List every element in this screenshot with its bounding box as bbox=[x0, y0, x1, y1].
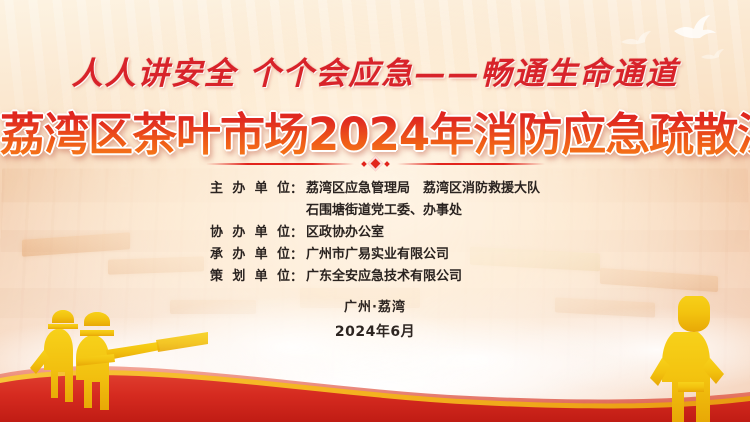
organizers-block: 主办单位：荔湾区应急管理局 荔湾区消防救援大队主办单位：石围塘街道党工委、办事处… bbox=[0, 178, 750, 287]
ornament-diamond bbox=[367, 156, 383, 172]
poster-content: 人人讲安全 个个会应急——畅通生命通道 荔湾区茶叶市场2024年消防应急疏散演练… bbox=[0, 0, 750, 422]
diamond-ornament-icon bbox=[362, 158, 389, 169]
organizer-label: 主办单位 bbox=[210, 178, 290, 199]
organizers-list: 主办单位：荔湾区应急管理局 荔湾区消防救援大队主办单位：石围塘街道党工委、办事处… bbox=[210, 178, 540, 287]
divider bbox=[0, 158, 750, 169]
organizer-row: 主办单位：石围塘街道党工委、办事处 bbox=[210, 200, 540, 221]
organizer-colon: ： bbox=[290, 222, 303, 243]
event-location: 广州·荔湾 bbox=[0, 296, 750, 315]
organizer-value: 石围塘街道党工委、办事处 bbox=[306, 200, 462, 221]
organizer-row: 协办单位：区政协办公室 bbox=[210, 222, 540, 243]
organizer-label: 协办单位 bbox=[210, 222, 290, 243]
organizer-value: 广东全安应急技术有限公司 bbox=[306, 266, 462, 287]
divider-line-left bbox=[206, 163, 354, 165]
slogan-text: 人人讲安全 个个会应急——畅通生命通道 bbox=[0, 48, 750, 93]
organizer-row: 主办单位：荔湾区应急管理局 荔湾区消防救援大队 bbox=[210, 178, 540, 199]
organizer-value: 荔湾区应急管理局 荔湾区消防救援大队 bbox=[306, 178, 540, 199]
organizer-colon: ： bbox=[290, 266, 303, 287]
page-title: 荔湾区茶叶市场2024年消防应急疏散演练 bbox=[0, 98, 750, 163]
organizer-label: 策划单位 bbox=[210, 266, 290, 287]
divider-line-right bbox=[397, 163, 545, 165]
organizer-value: 区政协办公室 bbox=[306, 222, 384, 243]
event-date: 2024年6月 bbox=[0, 321, 750, 341]
footer-block: 广州·荔湾 2024年6月 bbox=[0, 296, 750, 341]
organizer-value: 广州市广易实业有限公司 bbox=[306, 244, 449, 265]
organizer-row: 承办单位：广州市广易实业有限公司 bbox=[210, 244, 540, 265]
organizer-colon: ： bbox=[290, 244, 303, 265]
ornament-dot bbox=[361, 161, 367, 167]
poster-banner: 人人讲安全 个个会应急——畅通生命通道 荔湾区茶叶市场2024年消防应急疏散演练… bbox=[0, 0, 750, 422]
organizer-row: 策划单位：广东全安应急技术有限公司 bbox=[210, 266, 540, 287]
organizer-label: 承办单位 bbox=[210, 244, 290, 265]
ornament-dot bbox=[384, 161, 390, 167]
organizer-colon: ： bbox=[290, 178, 303, 199]
